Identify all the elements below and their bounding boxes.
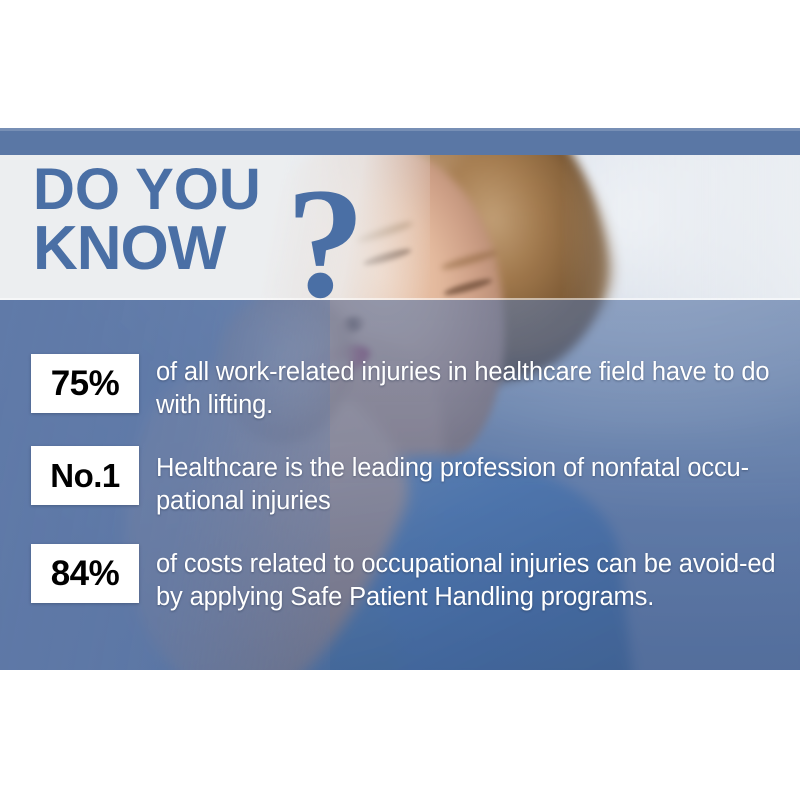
header-divider [0, 298, 800, 300]
list-item-text: of all work-related injuries in healthca… [156, 354, 778, 422]
headline-line-1: DO YOU [33, 163, 261, 218]
question-mark-icon: ? [286, 165, 365, 300]
list-item-text: of costs related to occupational injurie… [156, 544, 778, 614]
list-item: 75% of all work-related injuries in heal… [0, 354, 800, 422]
infographic-poster: DO YOU KNOW ? 75% of all work-related in… [0, 128, 800, 670]
status-badge: 75% [31, 354, 139, 413]
list-item-text: Healthcare is the leading profession of … [156, 446, 778, 518]
status-badge: No.1 [31, 446, 139, 505]
list-item: No.1 Healthcare is the leading professio… [0, 446, 800, 518]
status-badge: 84% [31, 544, 139, 603]
page-title: DO YOU KNOW [33, 163, 261, 278]
headline-line-2: KNOW [33, 220, 261, 278]
top-accent-bar [0, 128, 800, 155]
statistics-list: 75% of all work-related injuries in heal… [0, 300, 800, 670]
header-band: DO YOU KNOW ? [0, 155, 800, 300]
top-accent-bar-highlight [0, 128, 800, 131]
list-item: 84% of costs related to occupational inj… [0, 544, 800, 614]
image-canvas: DO YOU KNOW ? 75% of all work-related in… [0, 0, 800, 800]
